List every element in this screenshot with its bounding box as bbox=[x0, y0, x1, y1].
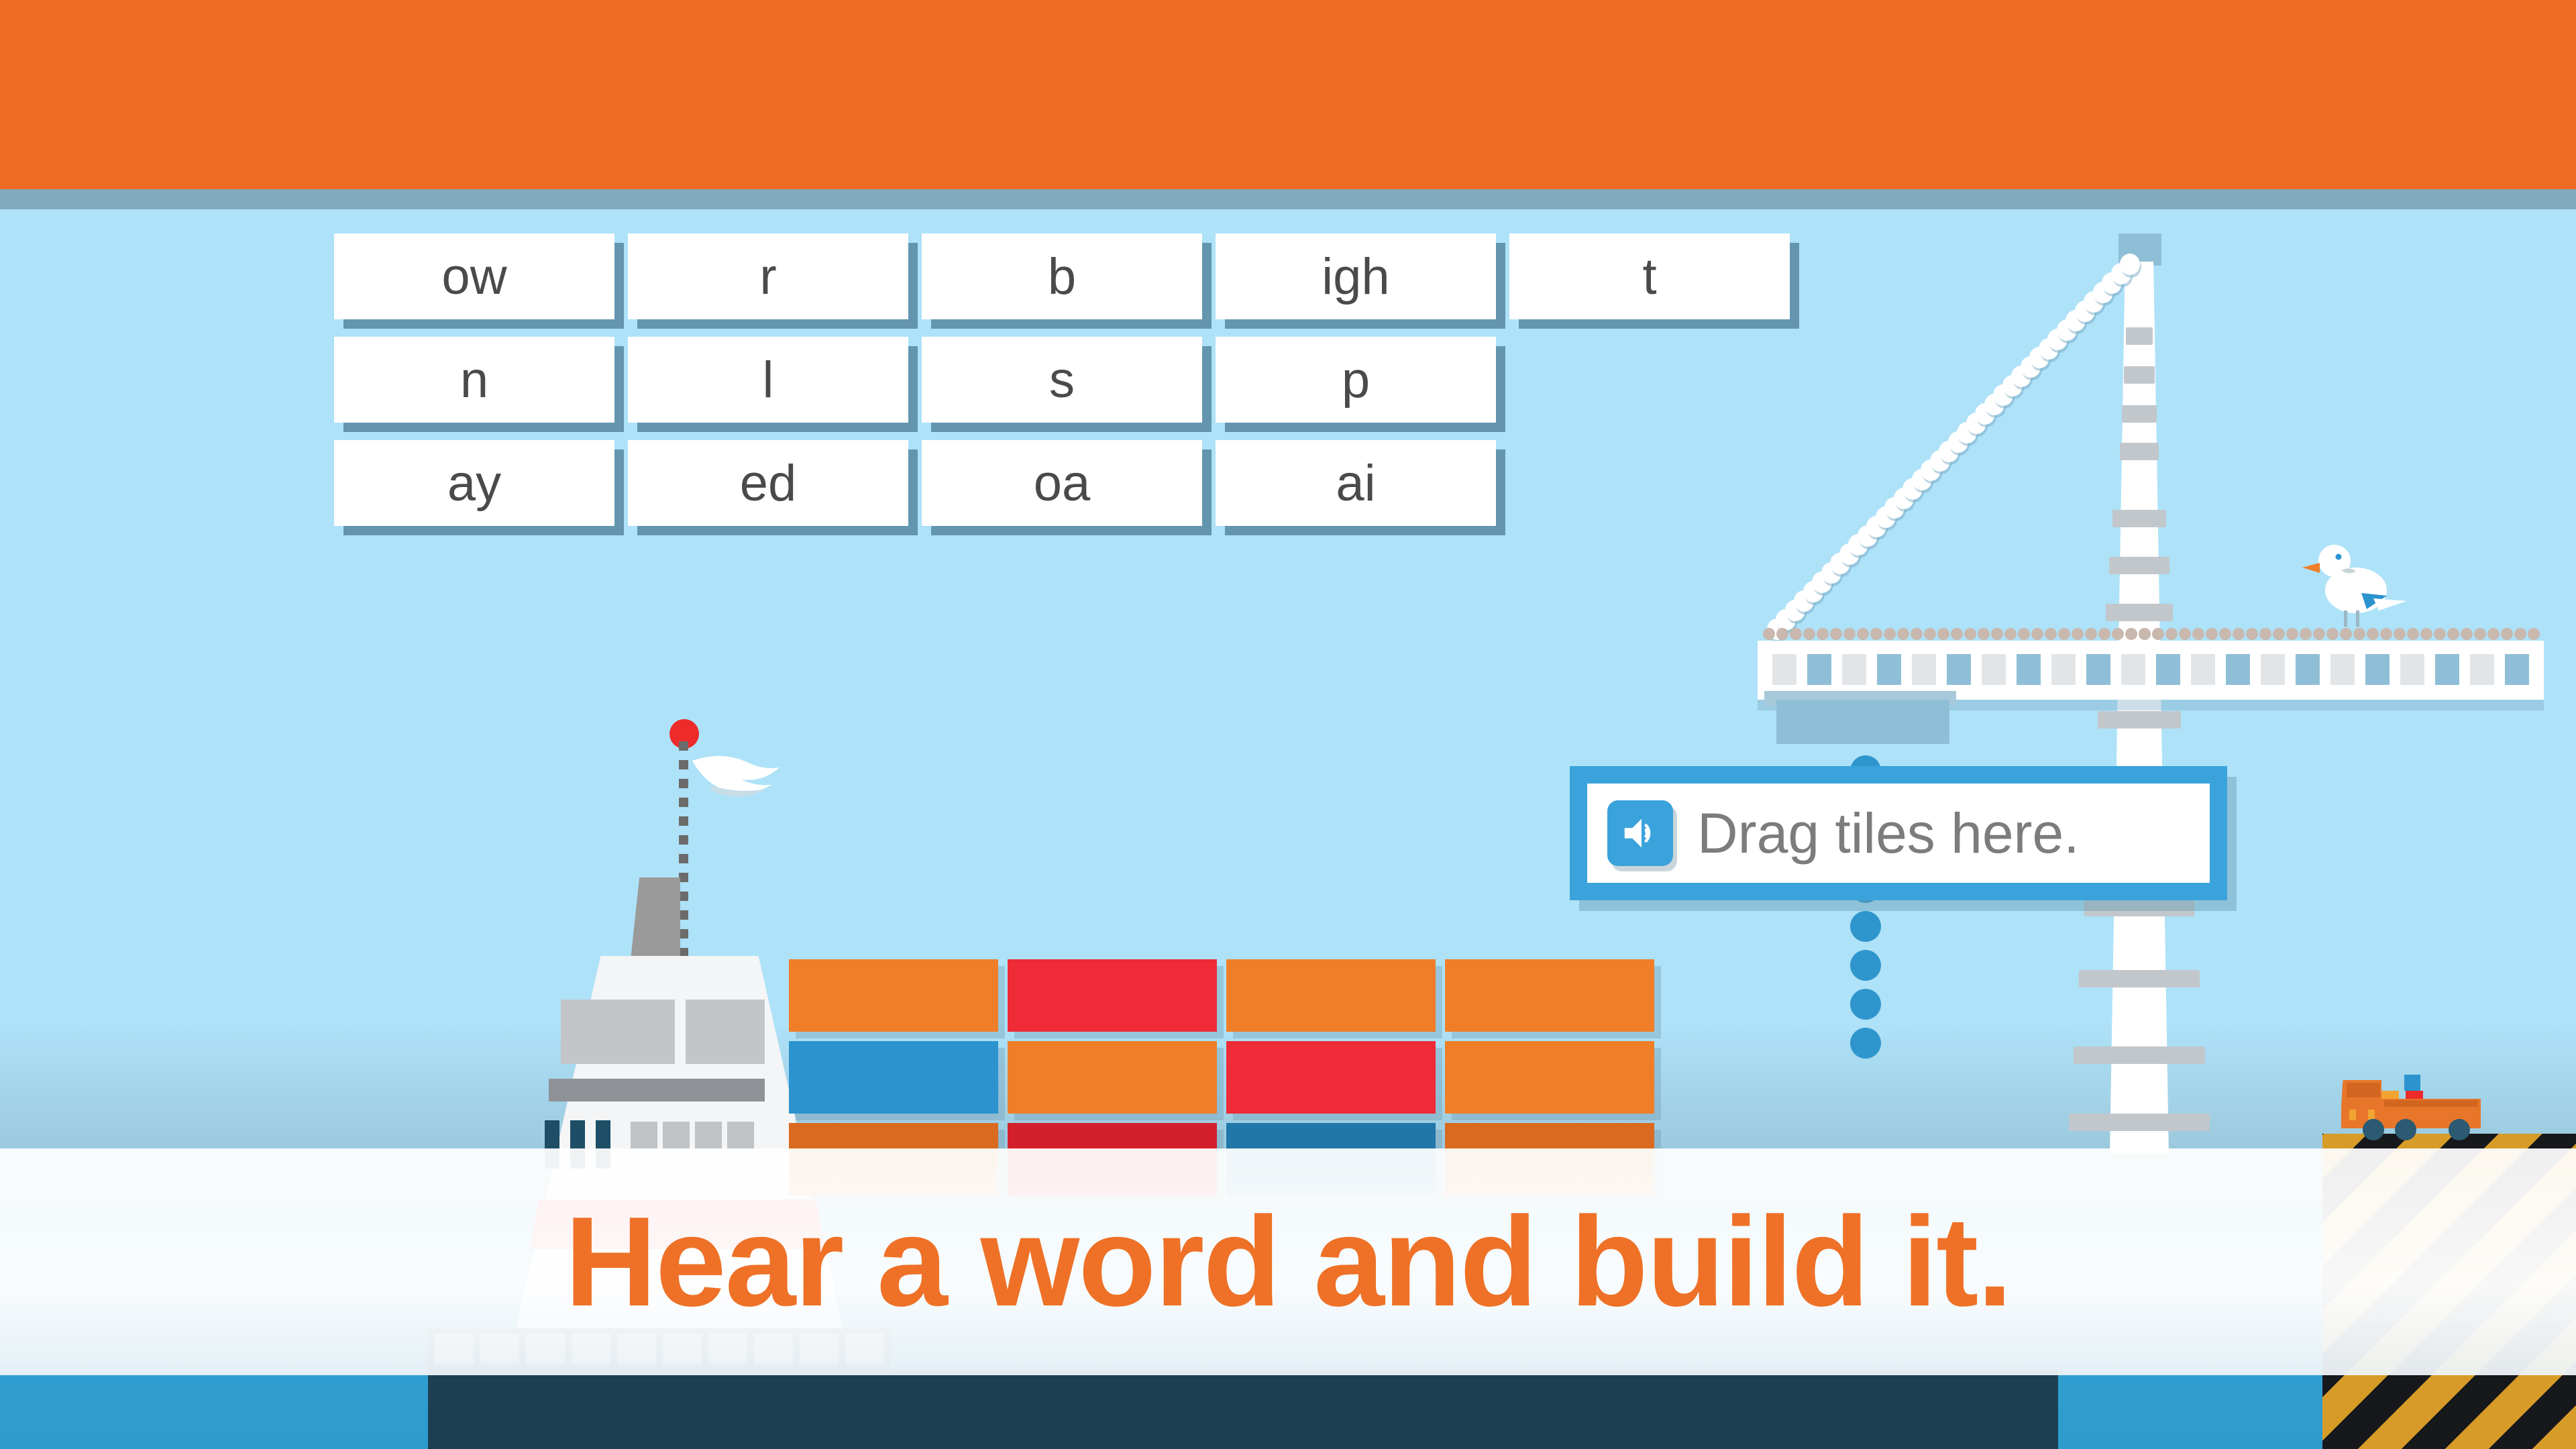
letter-tile[interactable]: p bbox=[1216, 337, 1496, 423]
crane-rung bbox=[2098, 711, 2181, 729]
crane-rung bbox=[2124, 366, 2155, 384]
ship-hull bbox=[428, 1370, 2058, 1449]
jib-rail-dot bbox=[1937, 628, 1949, 640]
ship-deck-box bbox=[727, 1122, 754, 1148]
ss-panel-left bbox=[561, 1000, 675, 1064]
container-row bbox=[789, 1041, 1664, 1114]
crane-rung bbox=[2079, 970, 2200, 987]
jib-rail-dot bbox=[2072, 628, 2084, 640]
ship-deck-box bbox=[631, 1122, 657, 1148]
jib-rail-dot bbox=[1897, 628, 1909, 640]
crane-rung bbox=[2109, 557, 2169, 574]
letter-tile[interactable]: ai bbox=[1216, 440, 1496, 526]
jib-rail-dot bbox=[1763, 628, 1775, 640]
ss-panel-right bbox=[686, 1000, 765, 1064]
crane-rung bbox=[2112, 510, 2166, 527]
letter-tile[interactable]: l bbox=[628, 337, 908, 423]
jib-rail-dot bbox=[2125, 628, 2137, 640]
jib-rail-dot bbox=[2098, 628, 2110, 640]
jib-square bbox=[2017, 654, 2041, 685]
jib-rail-dot bbox=[2474, 628, 2486, 640]
crane-mast bbox=[2110, 262, 2169, 1154]
jib-rail-dot bbox=[2407, 628, 2419, 640]
jib-rail-dot bbox=[2045, 628, 2057, 640]
jib-square bbox=[1877, 654, 1901, 685]
cargo-container bbox=[1226, 959, 1436, 1032]
jib-rail-dot bbox=[1790, 628, 1802, 640]
jib-rail-dot bbox=[1776, 628, 1788, 640]
container-row bbox=[789, 959, 1664, 1032]
jib-square bbox=[2156, 654, 2180, 685]
ship-deck-box bbox=[663, 1122, 690, 1148]
dump-truck-icon bbox=[2340, 1068, 2514, 1140]
jib-square bbox=[1982, 654, 2006, 685]
jib-rail-dot bbox=[2192, 628, 2204, 640]
game-stage: owrbightnlspayedoaai Drag tiles here. Bu… bbox=[0, 0, 2576, 1449]
jib-rail-dot bbox=[2018, 628, 2030, 640]
speaker-icon[interactable] bbox=[1607, 800, 1673, 866]
jib-rail-dot bbox=[2259, 628, 2271, 640]
crane-rung bbox=[2069, 1114, 2210, 1131]
jib-rail-dot bbox=[1843, 628, 1856, 640]
jib-rail-dot bbox=[2152, 628, 2164, 640]
crane-rung bbox=[2074, 1046, 2205, 1064]
jib-square bbox=[2435, 654, 2459, 685]
cargo-container bbox=[789, 1041, 998, 1114]
jib-square bbox=[1842, 654, 1866, 685]
letter-tile[interactable]: r bbox=[628, 233, 908, 319]
jib-square bbox=[2086, 654, 2110, 685]
jib-rail-dot bbox=[1978, 628, 1990, 640]
jib-rail-dot bbox=[1884, 628, 1896, 640]
crane-rung bbox=[2120, 443, 2159, 460]
jib-square bbox=[2296, 654, 2320, 685]
cargo-container bbox=[1008, 959, 1217, 1032]
letter-tile-row: nlsp bbox=[334, 337, 1803, 423]
letter-tile[interactable]: oa bbox=[922, 440, 1202, 526]
jib-rail-dot bbox=[1964, 628, 1976, 640]
dropzone-inner: Drag tiles here. bbox=[1587, 784, 2210, 883]
jib-rail-dot bbox=[2058, 628, 2070, 640]
jib-rail-dot bbox=[2461, 628, 2473, 640]
letter-tile[interactable]: ed bbox=[628, 440, 908, 526]
jib-square bbox=[1807, 654, 1831, 685]
letter-tile[interactable]: t bbox=[1509, 233, 1790, 319]
jib-rail-dot bbox=[1857, 628, 1869, 640]
dropzone-label: Drag tiles here. bbox=[1697, 801, 2080, 866]
letter-tile-row: ayedoaai bbox=[334, 440, 1803, 526]
jib-rail-dot bbox=[1817, 628, 1829, 640]
letter-tile[interactable]: s bbox=[922, 337, 1202, 423]
crane-cable-dot bbox=[2120, 254, 2140, 275]
jib-rail-dot bbox=[2139, 628, 2151, 640]
jib-rail-dot bbox=[1911, 628, 1923, 640]
cargo-container bbox=[789, 959, 998, 1032]
jib-square bbox=[2191, 654, 2215, 685]
letter-tile[interactable]: b bbox=[922, 233, 1202, 319]
crane-rung bbox=[2126, 327, 2153, 345]
jib-square bbox=[1912, 654, 1936, 685]
jib-rail-dot bbox=[2246, 628, 2258, 640]
jib-rail-dot bbox=[2206, 628, 2218, 640]
cargo-container bbox=[1445, 1041, 1654, 1114]
crane-rung bbox=[2122, 405, 2157, 423]
jib-rail-dot bbox=[1803, 628, 1815, 640]
letter-tile[interactable]: n bbox=[334, 337, 614, 423]
jib-rail-dot bbox=[2487, 628, 2500, 640]
crane-rung bbox=[2084, 899, 2194, 916]
jib-square bbox=[2365, 654, 2390, 685]
jib-square bbox=[2505, 654, 2529, 685]
word-dropzone[interactable]: Drag tiles here. bbox=[1570, 766, 2227, 900]
jib-rail-dot bbox=[2165, 628, 2178, 640]
jib-rail-dot bbox=[2447, 628, 2459, 640]
jib-square bbox=[2261, 654, 2285, 685]
letter-tile-tray: owrbightnlspayedoaai bbox=[334, 233, 1803, 543]
jib-square bbox=[2400, 654, 2424, 685]
jib-square bbox=[2121, 654, 2145, 685]
jib-rail-dot bbox=[1924, 628, 1936, 640]
seagull-icon bbox=[2294, 531, 2408, 632]
jib-rail-dot bbox=[2528, 628, 2540, 640]
jib-rail-dot bbox=[2273, 628, 2285, 640]
jib-square bbox=[1947, 654, 1971, 685]
jib-rail-dot bbox=[2179, 628, 2191, 640]
jib-rail-dot bbox=[2031, 628, 2043, 640]
letter-tile-row: owrbight bbox=[334, 233, 1803, 319]
jib-rail-dot bbox=[2420, 628, 2432, 640]
header-underline bbox=[0, 189, 2576, 209]
jib-rail-dot bbox=[1830, 628, 1842, 640]
cargo-container bbox=[1226, 1041, 1436, 1114]
jib-square bbox=[2226, 654, 2250, 685]
caption-text: Hear a word and build it. bbox=[0, 1148, 2576, 1375]
letter-tile[interactable]: igh bbox=[1216, 233, 1496, 319]
cargo-container bbox=[1445, 959, 1654, 1032]
jib-rail-dot bbox=[1991, 628, 2003, 640]
jib-square bbox=[2470, 654, 2494, 685]
jib-rail-dot bbox=[2434, 628, 2446, 640]
jib-rail-dot bbox=[2514, 628, 2526, 640]
jib-rail-dot bbox=[2085, 628, 2097, 640]
jib-rail-dot bbox=[1870, 628, 1882, 640]
cargo-container bbox=[1008, 1041, 1217, 1114]
letter-tile[interactable]: ow bbox=[334, 233, 614, 319]
app-header bbox=[0, 0, 2576, 189]
jib-rail-dot bbox=[2004, 628, 2017, 640]
jib-square bbox=[1772, 654, 1796, 685]
ss-panel-band bbox=[549, 1079, 765, 1102]
jib-square bbox=[2330, 654, 2355, 685]
ship-deck-box bbox=[695, 1122, 722, 1148]
jib-square bbox=[2051, 654, 2076, 685]
jib-rail-dot bbox=[1951, 628, 1963, 640]
flag-bird-icon bbox=[690, 750, 784, 812]
crane-rung bbox=[2106, 604, 2173, 621]
jib-rail-dot bbox=[2112, 628, 2124, 640]
jib-rail-dot bbox=[2219, 628, 2231, 640]
jib-rail-dot bbox=[2501, 628, 2513, 640]
letter-tile[interactable]: ay bbox=[334, 440, 614, 526]
jib-rail-dot bbox=[2233, 628, 2245, 640]
